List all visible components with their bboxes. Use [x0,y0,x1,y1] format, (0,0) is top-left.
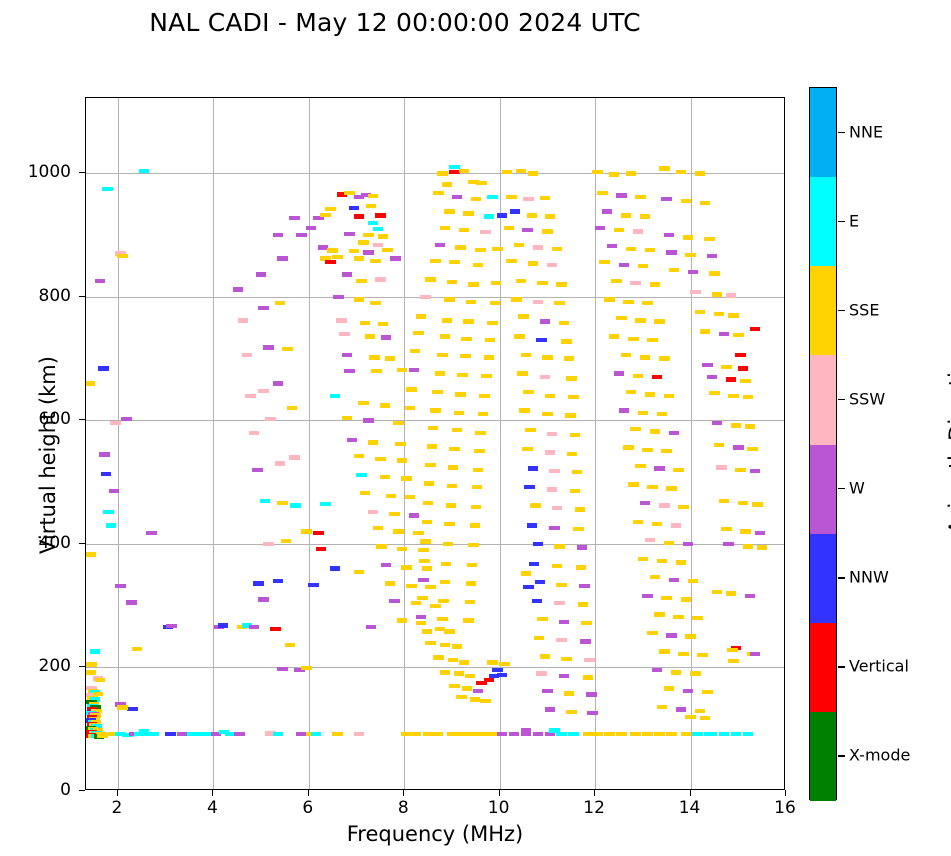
data-point [740,379,750,383]
data-point [106,523,116,527]
colorbar-tick [838,755,845,756]
data-point [700,329,710,333]
data-point [664,394,674,398]
data-point [265,417,275,421]
data-point [743,732,753,736]
data-point [252,468,262,472]
data-point [397,618,407,622]
data-point [599,260,609,264]
data-point [273,381,283,385]
data-point [466,300,476,304]
data-point [242,353,252,357]
data-point [549,526,559,530]
data-point [430,604,440,608]
data-point [752,502,762,506]
data-point [726,293,736,297]
data-point [621,353,631,357]
data-point [476,732,486,736]
data-point [425,463,435,467]
data-point [424,481,434,485]
colorbar-title: Azimuth Direction [945,240,951,640]
data-point [552,564,562,568]
data-point [430,259,440,263]
data-point [700,201,710,205]
data-point [556,282,566,286]
data-point [511,297,521,301]
data-point [356,279,366,283]
data-point [416,314,426,318]
data-point [358,401,368,405]
data-point [586,692,596,696]
data-point [448,465,458,469]
data-point [420,295,430,299]
data-point [380,475,390,479]
data-point [109,489,119,493]
x-tick [785,790,786,796]
data-point [166,624,176,628]
data-point [497,673,507,677]
data-point [664,233,674,237]
data-point [454,671,464,675]
data-point [95,279,105,283]
data-point [514,334,524,338]
data-point [592,732,602,736]
data-point [707,254,717,258]
data-point [366,204,376,208]
data-point [587,711,597,715]
y-tick-label: 1000 [28,162,71,182]
colorbar-label-sse: SSE [849,300,879,319]
data-point [521,353,531,357]
data-point [619,263,629,267]
data-point [530,503,540,507]
data-point [273,233,283,237]
data-point [273,579,283,583]
data-point [126,600,136,604]
data-point [442,318,452,322]
data-point [619,408,629,412]
data-point [306,226,316,230]
x-tick [403,790,404,796]
data-point [554,601,564,605]
data-point [666,486,676,490]
data-point [659,166,669,170]
data-point [444,297,454,301]
data-point [371,369,381,373]
data-point [121,417,131,421]
data-point [630,281,640,285]
data-point [336,318,346,322]
data-point [320,502,330,506]
data-point [532,599,542,603]
data-point [360,321,370,325]
data-point [218,623,228,627]
data-point [342,272,352,276]
data-point [540,319,550,323]
data-point [654,466,664,470]
data-point [370,259,380,263]
data-point [418,548,428,552]
data-point [516,279,526,283]
data-point [533,732,543,736]
data-point [688,270,698,274]
x-tick [212,790,213,796]
colorbar-label-e: E [849,211,859,230]
data-point [669,578,679,582]
data-point [263,345,273,349]
data-point [333,295,343,299]
data-point [468,282,478,286]
data-point [490,301,500,305]
data-point [745,594,755,598]
data-point [368,194,378,198]
data-point [460,354,470,358]
colorbar-segment-x-mode [810,712,836,801]
data-point [443,542,453,546]
data-point [633,374,643,378]
data-point [461,337,471,341]
data-point [85,670,95,674]
data-point [676,560,686,564]
data-point [342,416,352,420]
data-point [382,248,392,252]
data-point [435,371,445,375]
data-point [401,476,411,480]
data-point [579,584,589,588]
data-point [373,227,383,231]
data-point [349,249,359,253]
data-point [386,494,396,498]
data-point [549,469,559,473]
data-point [726,591,736,595]
data-point [640,355,650,359]
data-point [373,526,383,530]
data-point [287,406,297,410]
data-point [623,300,633,304]
data-point [342,353,352,357]
data-point [647,338,657,342]
data-point [521,732,531,736]
data-point [466,732,476,736]
data-point [559,620,569,624]
data-point [427,444,437,448]
data-point [463,319,473,323]
data-point [301,529,311,533]
data-point [652,522,662,526]
data-point [533,245,543,249]
data-point [681,732,691,736]
data-point [368,221,378,225]
data-point [378,234,388,238]
colorbar-segment-nne [810,88,836,177]
data-point [339,332,349,336]
data-point [395,442,405,446]
data-point [437,617,447,621]
data-point [552,506,562,510]
data-point [536,338,546,342]
data-point [409,513,419,517]
data-point [628,337,638,341]
data-point [568,732,578,736]
data-point [405,406,415,410]
data-point [688,579,698,583]
data-point [375,457,385,461]
data-point [626,247,636,251]
data-point [117,705,127,709]
data-point [510,209,520,213]
data-point [459,169,469,173]
colorbar-segment-e [810,177,836,266]
data-point [728,394,738,398]
data-point [459,228,469,232]
data-point [86,662,96,666]
data-point [238,318,248,322]
data-point [702,363,712,367]
x-tick [594,790,595,796]
data-point [258,597,268,601]
data-point [455,245,465,249]
data-point [397,458,407,462]
data-point [573,527,583,531]
data-point [728,659,738,663]
data-point [260,499,270,503]
x-tick-label: 14 [679,798,701,818]
data-point [354,732,364,736]
data-point [614,371,624,375]
data-point [282,347,292,351]
data-point [406,387,416,391]
data-point [389,599,399,603]
data-point [566,710,576,714]
data-point [529,562,539,566]
data-point [669,268,679,272]
data-point [115,584,125,588]
data-point [419,559,429,563]
data-point [273,732,283,736]
data-point [642,301,652,305]
data-point [527,523,537,527]
data-point [554,544,564,548]
data-point [740,529,750,533]
data-point [366,625,376,629]
colorbar-segment-sse [810,266,836,355]
data-point [139,169,149,173]
data-point [290,503,300,507]
data-point [411,732,421,736]
data-point [676,707,686,711]
data-point [363,250,373,254]
data-point [422,629,432,633]
data-point [661,449,671,453]
data-point [514,243,524,247]
data-point [356,473,366,477]
data-point [640,501,650,505]
data-point [695,709,705,713]
data-point [726,377,736,381]
data-point [249,431,259,435]
data-point [645,392,655,396]
data-point [697,653,707,657]
data-point [678,652,688,656]
data-point [721,527,731,531]
data-point [616,732,626,736]
data-point [671,523,681,527]
data-point [630,427,640,431]
data-point [568,395,578,399]
y-tick [79,296,85,297]
data-point [535,580,545,584]
data-point [440,580,450,584]
data-point [296,233,306,237]
data-point [330,566,340,570]
data-point [595,226,605,230]
data-point [647,631,657,635]
data-point [311,732,321,736]
data-point [575,507,585,511]
data-point [440,226,450,230]
data-point [97,733,107,737]
data-point [707,375,717,379]
data-point [621,213,631,217]
data-point [437,171,447,175]
data-point [545,732,555,736]
data-point [466,581,476,585]
chart-title: NAL CADI - May 12 00:00:00 2024 UTC [0,8,790,37]
data-point [380,403,390,407]
data-point [664,686,674,690]
data-point [614,228,624,232]
data-point [385,356,395,360]
data-point [492,668,502,672]
data-point [474,449,484,453]
data-point [609,172,619,176]
data-point [249,625,259,629]
data-point [373,243,383,247]
data-point [470,697,480,701]
data-point [509,732,519,736]
data-point [650,282,660,286]
data-point [522,228,532,232]
data-point [716,465,726,469]
data-point [418,578,428,582]
data-point [480,230,490,234]
colorbar-segment-ssw [810,355,836,444]
data-point [673,468,683,472]
data-point [454,411,464,415]
x-tick [308,790,309,796]
data-point [463,618,473,622]
data-point [405,495,415,499]
data-point [327,248,337,252]
data-point [422,566,432,570]
data-point [534,636,544,640]
data-point [533,542,543,546]
data-point [626,390,636,394]
data-point [497,732,507,736]
data-point [671,670,681,674]
data-point [650,429,660,433]
y-tick-label: 0 [60,780,71,800]
data-point [565,413,575,417]
data-point [473,468,483,472]
data-point [308,583,318,587]
data-point [85,552,95,556]
colorbar-segment-vertical [810,623,836,712]
data-point [583,675,593,679]
data-point [547,432,557,436]
data-point [401,565,411,569]
data-point [704,237,714,241]
data-point [607,244,617,248]
x-axis-title: Frequency (MHz) [85,822,785,846]
data-point [492,247,502,251]
data-point [542,229,552,233]
data-point [604,732,614,736]
colorbar-label-vertical: Vertical [849,657,909,676]
data-point [547,263,557,267]
data-point [525,428,535,432]
data-point [354,256,364,260]
data-point [523,390,533,394]
y-tick [79,790,85,791]
data-point [411,601,421,605]
data-point [602,209,612,213]
data-point [523,197,533,201]
data-point [576,565,586,569]
colorbar-tick [838,310,845,311]
data-point [475,248,485,252]
data-point [406,584,416,588]
plot-area [85,97,785,790]
data-point [733,445,743,449]
data-point [719,332,729,336]
data-point [664,541,674,545]
data-point [441,562,451,566]
data-point [545,214,555,218]
data-point [537,281,547,285]
data-point [149,732,159,736]
colorbar-label-nnw: NNW [849,568,889,587]
data-point [444,209,454,213]
data-point [413,531,423,535]
data-point [347,438,357,442]
data-point [657,559,667,563]
data-point [146,531,156,535]
data-point [657,412,667,416]
data-point [666,250,676,254]
data-point [467,563,477,567]
data-point [332,732,342,736]
data-point [245,394,255,398]
data-point [518,314,528,318]
data-point [635,195,645,199]
data-point [354,214,364,218]
colorbar-tick [838,132,845,133]
data-point [476,181,486,185]
data-point [438,599,448,603]
data-point [556,583,566,587]
data-point [85,381,95,385]
data-point [733,333,743,337]
data-point [301,666,311,670]
data-point [628,482,638,486]
data-point [470,523,480,527]
data-point [393,421,403,425]
data-point [473,689,483,693]
x-tick [499,790,500,796]
data-point [275,461,285,465]
data-point [633,229,643,233]
